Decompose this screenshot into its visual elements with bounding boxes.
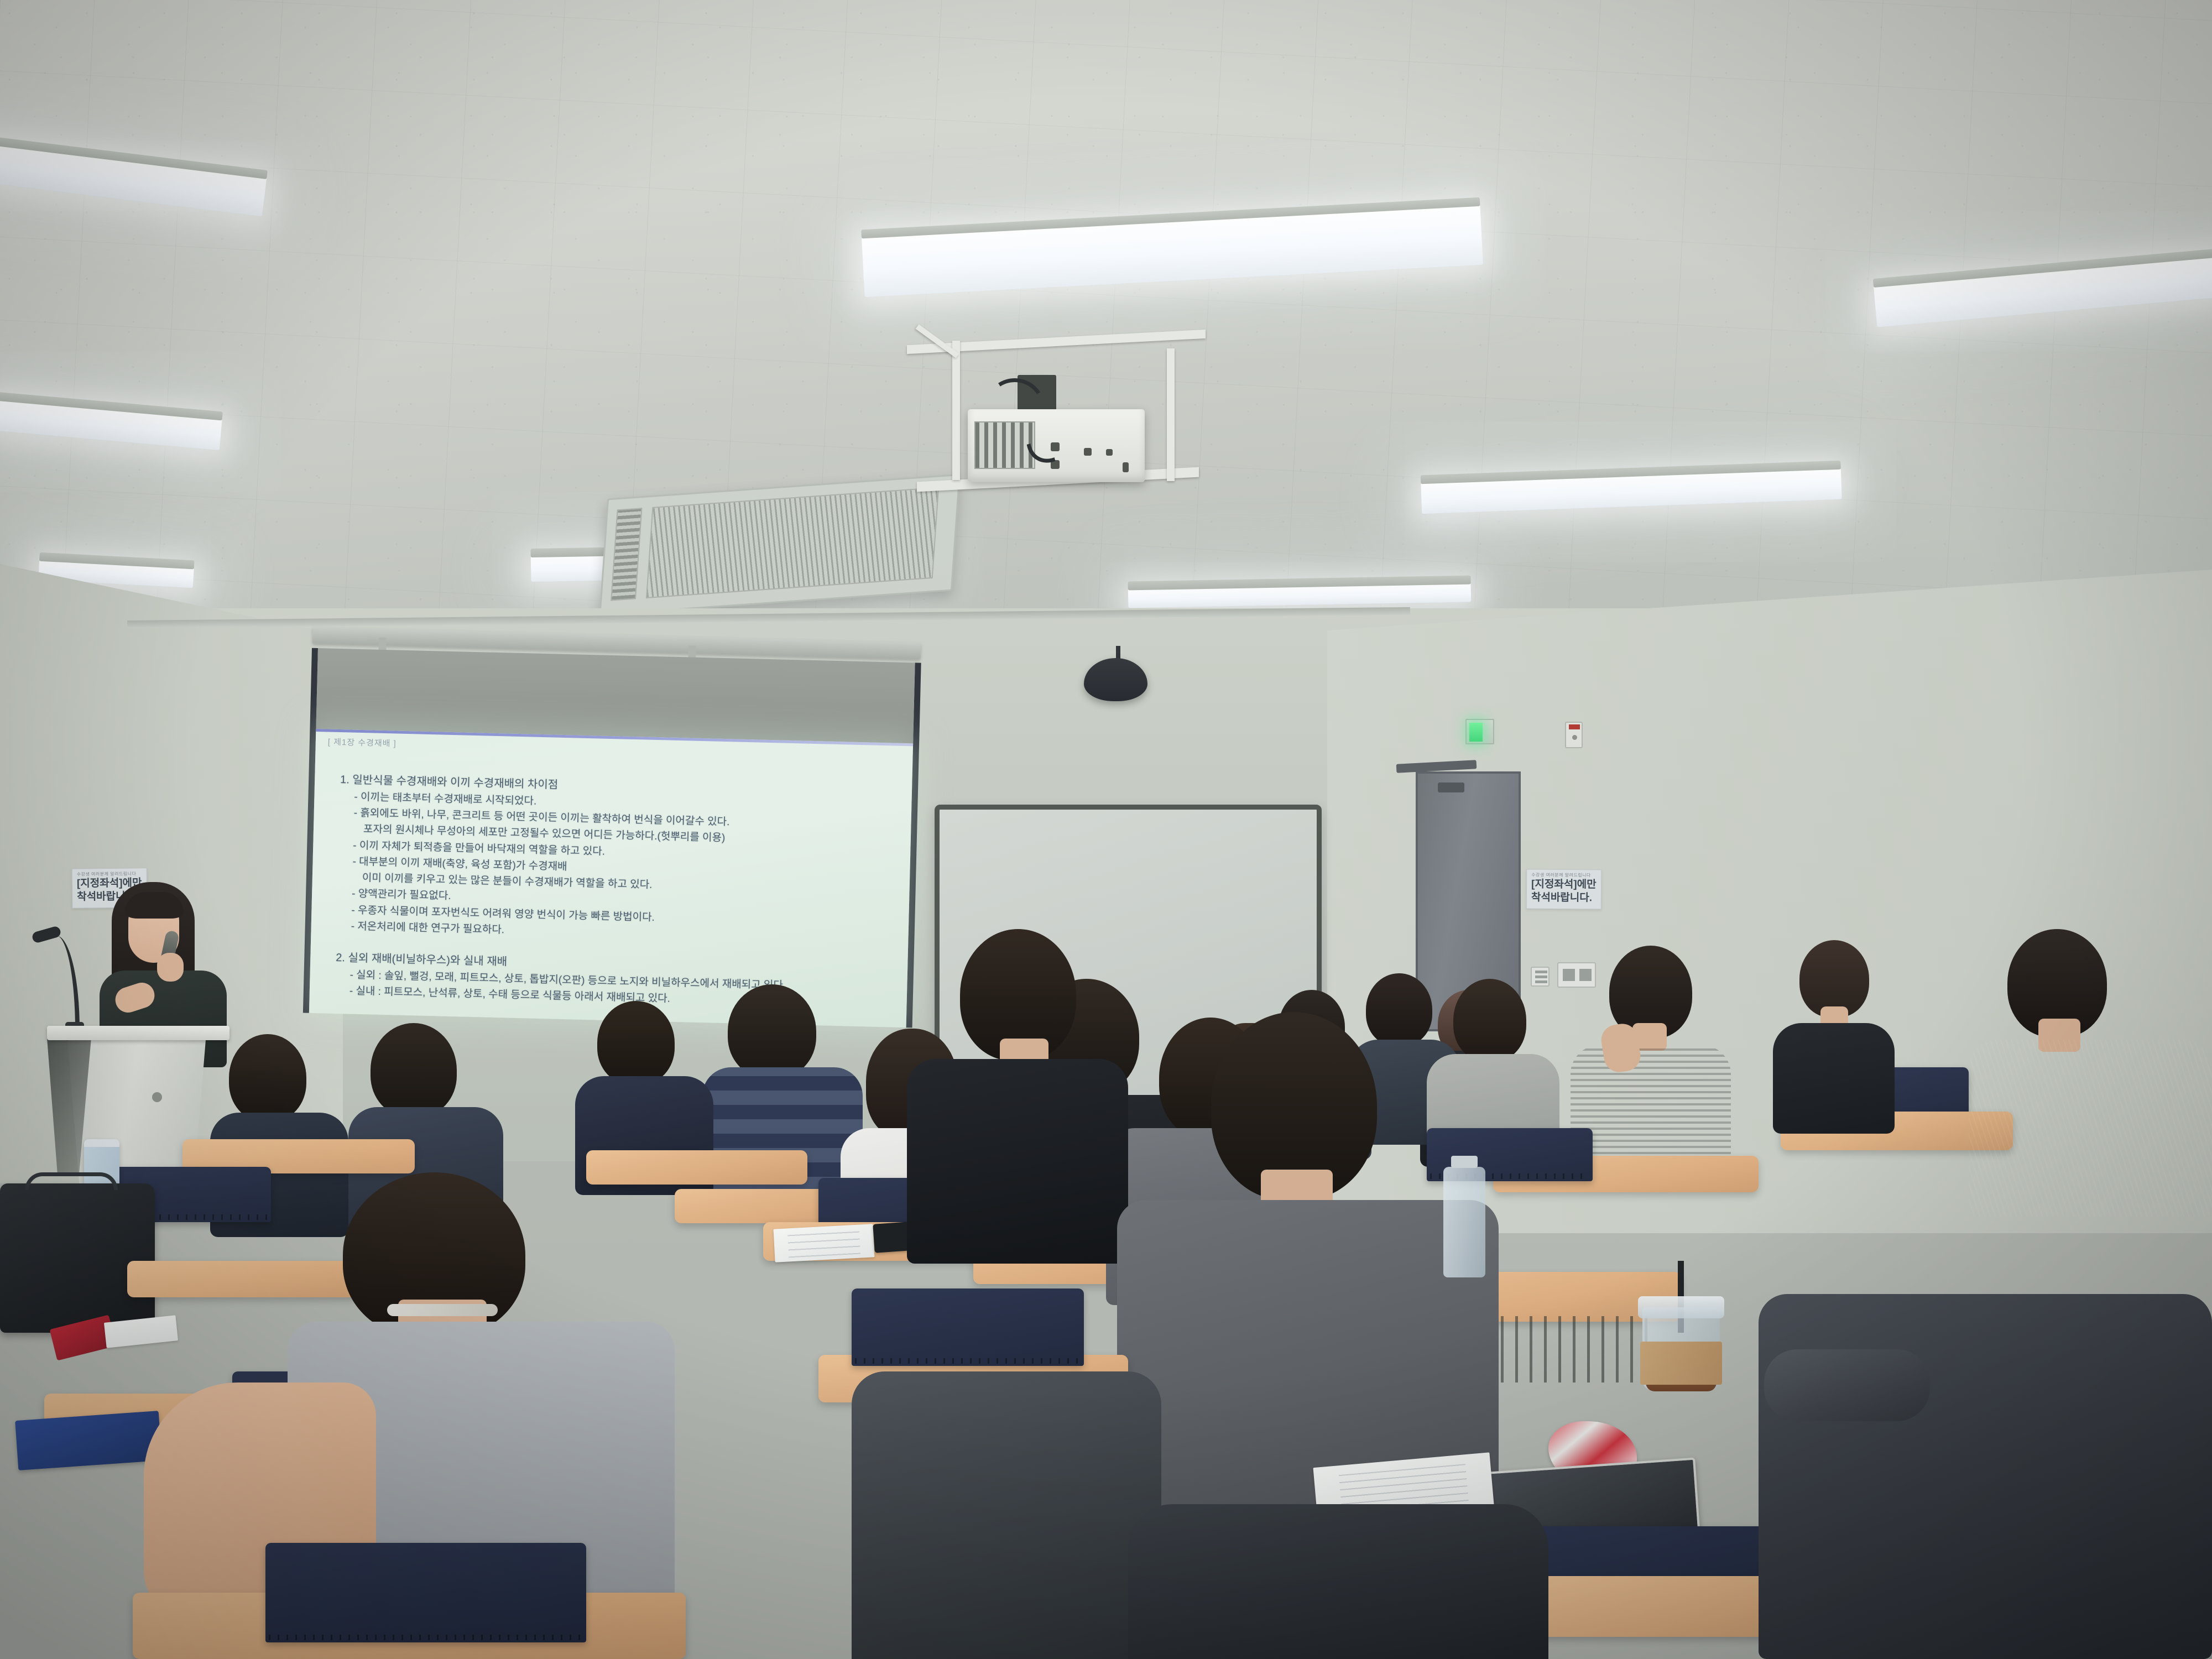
water-bottle [1443, 1167, 1485, 1277]
projector-port [1084, 448, 1092, 456]
backpack-strap [25, 1172, 118, 1190]
seat-notice-line-2: 착석바랍니다. [1531, 891, 1597, 905]
lectern-knob [152, 1092, 162, 1102]
student-dark-foreground-right [1759, 1217, 2212, 1659]
presenter-bangs [125, 892, 184, 919]
fire-alarm [1565, 722, 1583, 748]
torso [1571, 1045, 1731, 1172]
slide-body: 1. 일반식물 수경재배와 이끼 수경재배의 차이점 - 이끼는 태초부터 수경… [335, 770, 905, 1013]
torso [907, 1059, 1128, 1264]
desk [586, 1150, 807, 1185]
switch-key[interactable] [1535, 971, 1547, 973]
fire-alarm-strobe [1569, 724, 1580, 729]
head [1799, 940, 1869, 1018]
necklace [387, 1304, 498, 1316]
student-dark-center-front [852, 1371, 1161, 1659]
head [728, 984, 816, 1078]
cage-post-left [952, 341, 960, 480]
cup-lid [1638, 1296, 1725, 1318]
head [229, 1034, 306, 1121]
iced-coffee-cup [1642, 1288, 1720, 1410]
lecture-hall-photo: [ 제1장 수경재배 ] 1. 일반식물 수경재배와 이끼 수경재배의 차이점 … [0, 0, 2212, 1659]
gooseneck-microphone [32, 929, 87, 1037]
tumbler-cap [84, 1139, 119, 1147]
torso [1759, 1294, 2212, 1659]
head [371, 1023, 457, 1117]
projector-port [1123, 462, 1129, 472]
seat-notice-sign-right: 수강생 여러분께 알려드립니다 [지정좌석]에만 착석바랍니다. [1526, 869, 1601, 910]
bottle-cap [1451, 1156, 1478, 1168]
projection-screen: [ 제1장 수경재배 ] 1. 일반식물 수경재배와 이끼 수경재배의 차이점 … [309, 648, 915, 1027]
slide-header: [ 제1장 수경재배 ] [328, 735, 397, 749]
door-hinge [1438, 782, 1464, 792]
student-black-shirt-front [907, 929, 1128, 1261]
projected-slide: [ 제1장 수경재배 ] 1. 일반식물 수경재배와 이끼 수경재배의 차이점 … [309, 729, 913, 1027]
fire-alarm-button [1572, 735, 1577, 740]
projector-port [1106, 449, 1113, 456]
switch-key[interactable] [1535, 975, 1547, 978]
lectern-top [47, 1026, 229, 1040]
student-gray-woman-front [1128, 1504, 1548, 1659]
paper-text-lines [787, 1229, 860, 1258]
torso [852, 1371, 1161, 1659]
torso [1969, 1040, 2212, 1217]
handout-papers [774, 1224, 875, 1262]
cup-sleeve [1640, 1342, 1722, 1385]
chair[interactable] [852, 1288, 1084, 1366]
seat-notice-line-1: [지정좌석]에만 [1531, 878, 1597, 891]
ceiling-projector-mount [890, 332, 1206, 498]
emergency-exit-sign [1465, 719, 1494, 744]
ac-vent-slot [611, 508, 642, 601]
presenter-hand-holding-mic [157, 953, 184, 982]
exit-sign-glow [1469, 723, 1483, 742]
ac-grille [646, 487, 939, 598]
student-denim-jacket [1969, 929, 2212, 1217]
torso [1128, 1504, 1548, 1659]
microphone-arm [46, 936, 80, 1030]
arm [1764, 1349, 1930, 1421]
head [597, 1001, 675, 1085]
cage-post-right [1167, 348, 1175, 481]
student-black-top [1770, 940, 1897, 1128]
chair[interactable] [265, 1543, 586, 1642]
torso [1773, 1023, 1895, 1134]
student-grey-striped [1571, 946, 1731, 1167]
